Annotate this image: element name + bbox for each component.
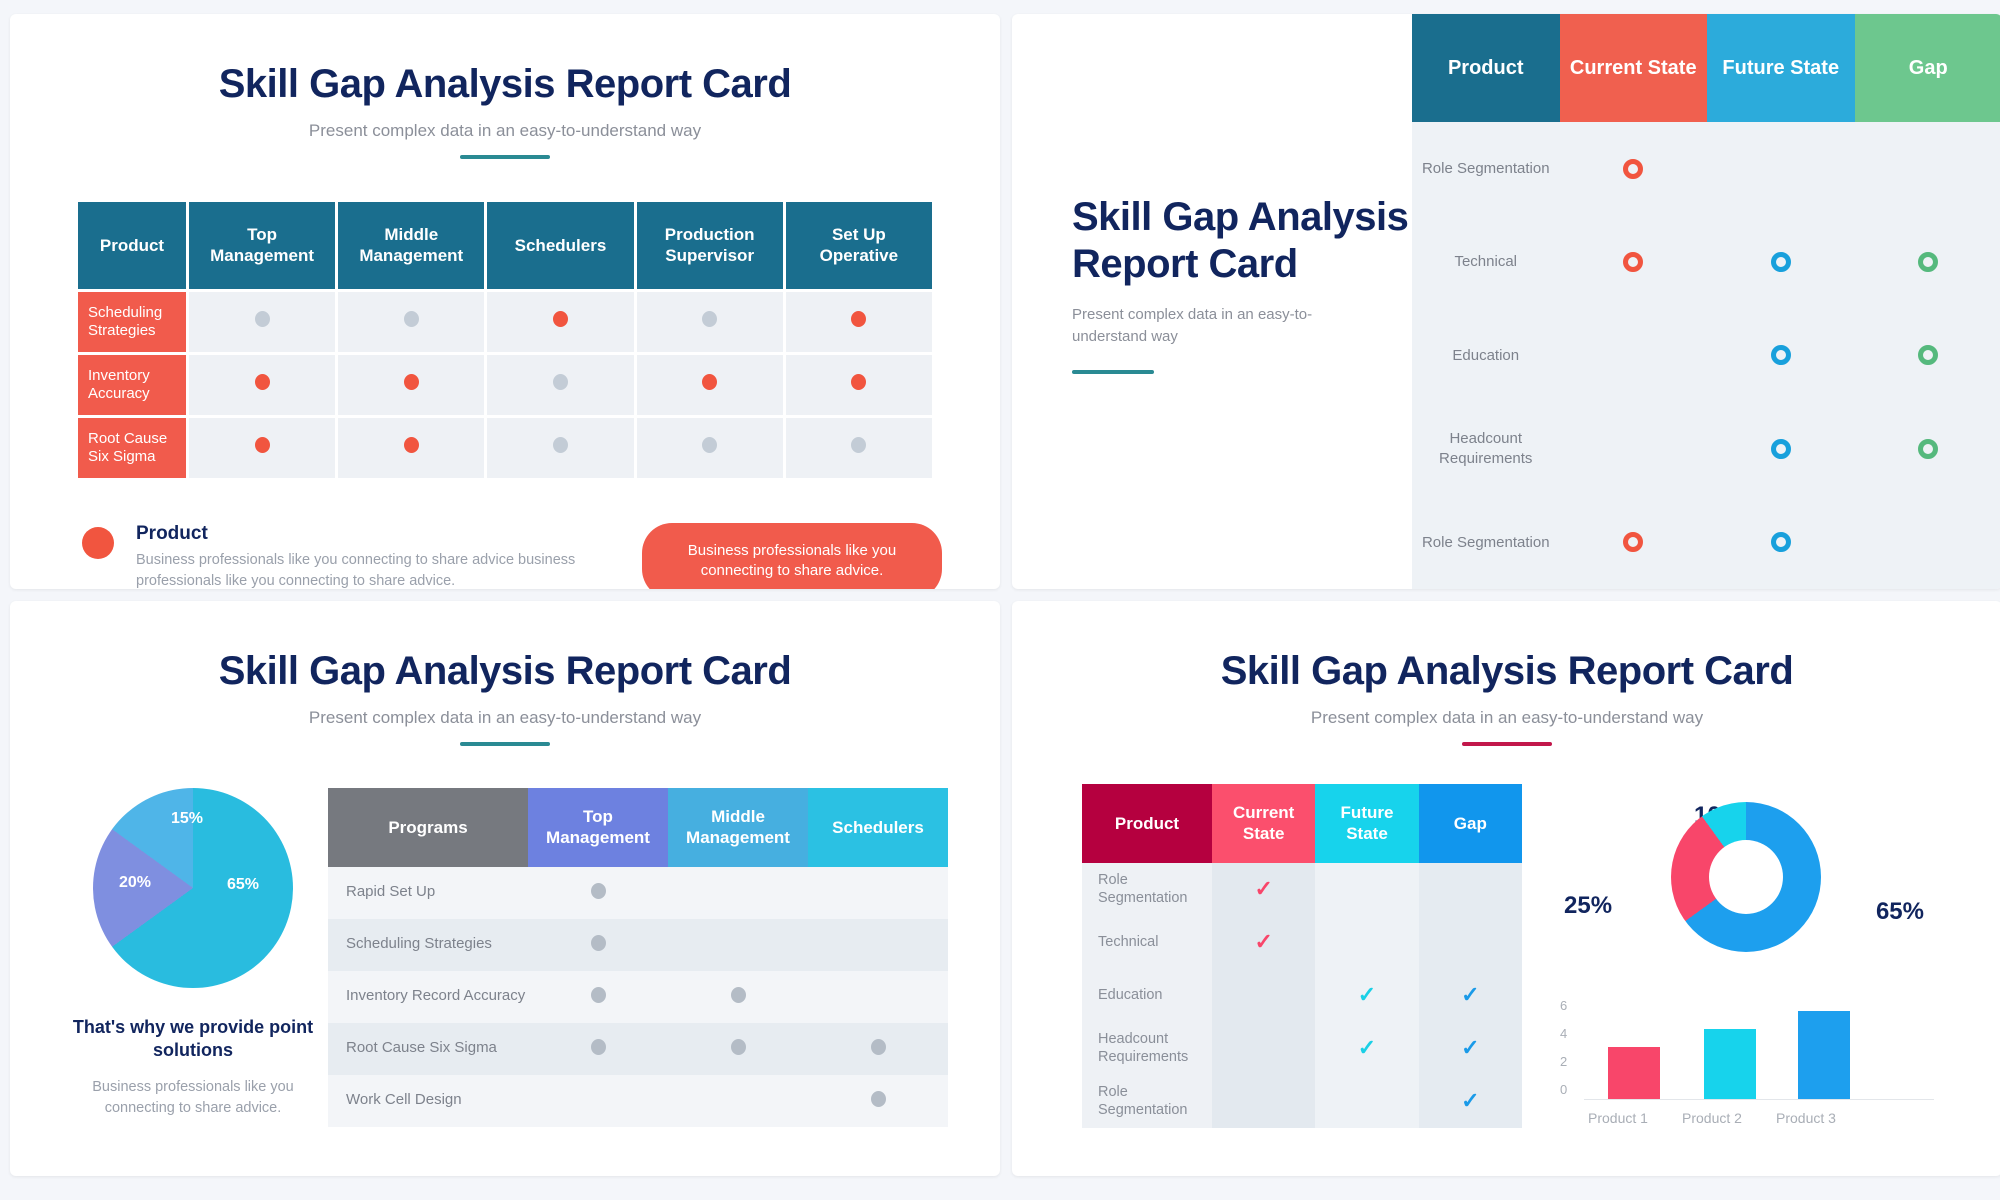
pie-label-65: 65% bbox=[227, 876, 259, 894]
slide-grid: Skill Gap Analysis Report Card Present c… bbox=[0, 0, 2000, 1190]
cell-future-state bbox=[1707, 345, 1855, 365]
status-dot-red bbox=[404, 374, 419, 390]
status-dot-grey bbox=[553, 437, 568, 453]
status-dot-grey bbox=[851, 437, 866, 453]
row-label: Headcount Requirements bbox=[1082, 1022, 1212, 1075]
pie-chart: 65% 20% 15% bbox=[93, 788, 293, 988]
page-title: Skill Gap Analysis Report Card bbox=[10, 649, 1000, 694]
status-dot-grey bbox=[591, 935, 606, 951]
cell-current-state: ✓ bbox=[1212, 863, 1315, 916]
page-subtitle: Present complex data in an easy-to-under… bbox=[1072, 304, 1322, 348]
matrix-cell bbox=[786, 355, 932, 415]
check-icon-blue: ✓ bbox=[1461, 982, 1479, 1007]
cell-middle-management bbox=[668, 867, 808, 919]
matrix-cell bbox=[487, 292, 633, 352]
table-row: Inventory Record Accuracy bbox=[328, 971, 948, 1023]
legend-title: Product bbox=[136, 523, 606, 545]
cell-current-state bbox=[1212, 969, 1315, 1022]
cell-top-management bbox=[528, 867, 668, 919]
col-header-future-state: Future State bbox=[1707, 14, 1855, 122]
table-row: Education bbox=[1412, 309, 2000, 402]
cell-future-state bbox=[1315, 1075, 1418, 1128]
status-dot-red bbox=[255, 437, 270, 453]
table-row: Headcount Requirements bbox=[1412, 402, 2000, 495]
cell-middle-management bbox=[668, 1075, 808, 1127]
ring-icon-blue bbox=[1771, 345, 1791, 365]
cell-schedulers bbox=[808, 867, 948, 919]
col-header-middle-management: Middle Management bbox=[338, 202, 484, 289]
row-label: Education bbox=[1082, 969, 1212, 1022]
gap-check-table: Product Current State Future State Gap R… bbox=[1082, 784, 1522, 1128]
ring-icon-blue bbox=[1771, 532, 1791, 552]
status-dot-red bbox=[404, 437, 419, 453]
status-dot-grey bbox=[871, 1039, 886, 1055]
table-row: Role Segmentation ✓ bbox=[1082, 1075, 1522, 1128]
row-label: Technical bbox=[1082, 916, 1212, 969]
table-row: Root Cause Six Sigma bbox=[328, 1023, 948, 1075]
ring-icon-blue bbox=[1771, 439, 1791, 459]
cell-gap bbox=[1855, 439, 2000, 459]
cell-current-state bbox=[1560, 159, 1708, 179]
cell-future-state: ✓ bbox=[1315, 1022, 1418, 1075]
pie-caption: That's why we provide point solutions bbox=[68, 1016, 318, 1063]
status-dot-red bbox=[851, 311, 866, 327]
x-tick-product-3: Product 3 bbox=[1776, 1110, 1836, 1126]
cell-gap bbox=[1419, 863, 1522, 916]
cell-top-management bbox=[528, 971, 668, 1023]
row-label: Inventory Accuracy bbox=[78, 355, 186, 415]
matrix-cell bbox=[338, 355, 484, 415]
table-header-row: Product Current State Future State Gap bbox=[1412, 14, 2000, 122]
check-icon-blue: ✓ bbox=[1461, 1035, 1479, 1060]
status-dot-red bbox=[255, 374, 270, 390]
matrix-cell bbox=[637, 418, 783, 478]
legend-text-block: Product Business professionals like you … bbox=[136, 523, 606, 590]
status-dot-red bbox=[851, 374, 866, 390]
cell-gap bbox=[1855, 252, 2000, 272]
table-header-row: Programs Top Management Middle Managemen… bbox=[328, 788, 948, 867]
col-header-future-state: Future State bbox=[1315, 784, 1418, 863]
matrix-cell bbox=[189, 355, 335, 415]
cell-top-management bbox=[528, 1023, 668, 1075]
cell-schedulers bbox=[808, 1023, 948, 1075]
ring-icon-red bbox=[1623, 532, 1643, 552]
pie-label-20: 20% bbox=[119, 874, 151, 892]
panel3-body: 65% 20% 15% That's why we provide point … bbox=[68, 788, 1000, 1127]
panel-current-future-gap-rings: Skill Gap Analysis Report Card Present c… bbox=[1012, 14, 2000, 589]
cell-future-state bbox=[1707, 532, 1855, 552]
cell-current-state bbox=[1560, 532, 1708, 552]
cell-gap: ✓ bbox=[1419, 969, 1522, 1022]
cell-current-state bbox=[1212, 1022, 1315, 1075]
ring-icon-green bbox=[1918, 439, 1938, 459]
title-rule bbox=[1072, 370, 1154, 374]
table-row: Role Segmentation ✓ bbox=[1082, 863, 1522, 916]
table-row: Scheduling Strategies bbox=[328, 919, 948, 971]
cell-future-state: ✓ bbox=[1315, 969, 1418, 1022]
matrix-cell bbox=[786, 292, 932, 352]
pie-label-15: 15% bbox=[171, 810, 203, 828]
page-subtitle: Present complex data in an easy-to-under… bbox=[10, 708, 1000, 728]
x-axis-line bbox=[1584, 1099, 1934, 1100]
page-title: Skill Gap Analysis Report Card bbox=[1012, 649, 2000, 694]
table-row: Role Segmentation bbox=[1412, 496, 2000, 589]
matrix-cell bbox=[487, 418, 633, 478]
status-dot-grey bbox=[702, 311, 717, 327]
row-label: Role Segmentation bbox=[1082, 1075, 1212, 1128]
bar-product-3 bbox=[1798, 1011, 1850, 1099]
row-label: Work Cell Design bbox=[328, 1075, 528, 1127]
status-dot-red bbox=[553, 311, 568, 327]
panel2-intro: Skill Gap Analysis Report Card Present c… bbox=[1012, 14, 1412, 589]
col-header-top-management: Top Management bbox=[189, 202, 335, 289]
legend-body: Business professionals like you connecti… bbox=[136, 550, 606, 590]
title-rule bbox=[460, 742, 550, 746]
check-icon-pink: ✓ bbox=[1254, 929, 1272, 954]
donut-chart bbox=[1671, 802, 1821, 952]
col-header-schedulers: Schedulers bbox=[808, 788, 948, 867]
status-dot-grey bbox=[591, 1039, 606, 1055]
row-label: Headcount Requirements bbox=[1412, 429, 1560, 468]
legend-block: Product Business professionals like you … bbox=[82, 523, 942, 590]
row-label: Role Segmentation bbox=[1422, 159, 1550, 179]
cell-future-state bbox=[1707, 439, 1855, 459]
row-label: Root Cause Six Sigma bbox=[328, 1023, 528, 1075]
panel4-charts: 10% 25% 65% 6 4 2 0 Product 1 Product 2 bbox=[1546, 784, 1946, 1128]
check-icon-cyan: ✓ bbox=[1358, 982, 1376, 1007]
col-header-product: Product bbox=[1082, 784, 1212, 863]
cell-schedulers bbox=[808, 1075, 948, 1127]
status-dot-grey bbox=[871, 1091, 886, 1107]
bar-product-2 bbox=[1704, 1029, 1756, 1099]
skill-matrix-table: Product Top Management Middle Management… bbox=[75, 199, 935, 481]
cell-middle-management bbox=[668, 1023, 808, 1075]
matrix-cell bbox=[338, 292, 484, 352]
matrix-cell bbox=[786, 418, 932, 478]
cell-gap: ✓ bbox=[1419, 1075, 1522, 1128]
row-label: Inventory Record Accuracy bbox=[328, 971, 528, 1023]
status-dot-red bbox=[702, 374, 717, 390]
title-rule bbox=[1462, 742, 1552, 746]
status-dot-grey bbox=[731, 987, 746, 1003]
legend-dot-icon bbox=[82, 527, 114, 559]
table-row: Technical bbox=[1412, 215, 2000, 308]
ring-icon-red bbox=[1623, 159, 1643, 179]
cell-gap bbox=[1419, 916, 1522, 969]
cell-top-management bbox=[528, 919, 668, 971]
page-subtitle: Present complex data in an easy-to-under… bbox=[1012, 708, 2000, 728]
table-body: Role Segmentation Technical Education bbox=[1412, 122, 2000, 589]
row-label: Scheduling Strategies bbox=[328, 919, 528, 971]
table-header-row: Product Top Management Middle Management… bbox=[78, 202, 932, 289]
col-header-gap: Gap bbox=[1855, 14, 2000, 122]
cell-middle-management bbox=[668, 919, 808, 971]
cell-gap: ✓ bbox=[1419, 1022, 1522, 1075]
x-tick-product-2: Product 2 bbox=[1682, 1110, 1742, 1126]
ring-icon-red bbox=[1623, 252, 1643, 272]
status-dot-grey bbox=[591, 883, 606, 899]
cell-schedulers bbox=[808, 971, 948, 1023]
status-dot-grey bbox=[404, 311, 419, 327]
status-dot-grey bbox=[591, 987, 606, 1003]
table-row: Technical ✓ bbox=[1082, 916, 1522, 969]
pie-caption-sub: Business professionals like you connecti… bbox=[68, 1077, 318, 1119]
cell-current-state bbox=[1212, 1075, 1315, 1128]
col-header-schedulers: Schedulers bbox=[487, 202, 633, 289]
panel-pie-programs: Skill Gap Analysis Report Card Present c… bbox=[10, 601, 1000, 1176]
title-rule bbox=[460, 155, 550, 159]
cell-future-state bbox=[1315, 863, 1418, 916]
status-dot-grey bbox=[553, 374, 568, 390]
donut-label-25: 25% bbox=[1564, 892, 1612, 920]
matrix-cell bbox=[338, 418, 484, 478]
status-dot-grey bbox=[702, 437, 717, 453]
panel2-layout: Skill Gap Analysis Report Card Present c… bbox=[1012, 14, 2000, 589]
panel2-table: Product Current State Future State Gap R… bbox=[1412, 14, 2000, 589]
ring-icon-green bbox=[1918, 252, 1938, 272]
check-icon-cyan: ✓ bbox=[1358, 1035, 1376, 1060]
row-label: Rapid Set Up bbox=[328, 867, 528, 919]
table-row: Headcount Requirements ✓ ✓ bbox=[1082, 1022, 1522, 1075]
cell-gap bbox=[1855, 345, 2000, 365]
row-label: Root Cause Six Sigma bbox=[78, 418, 186, 478]
cell-schedulers bbox=[808, 919, 948, 971]
page-title: Skill Gap Analysis Report Card bbox=[1072, 194, 1412, 288]
table-row: Scheduling Strategies bbox=[78, 292, 932, 352]
y-tick-4: 4 bbox=[1560, 1026, 1567, 1041]
status-dot-grey bbox=[731, 1039, 746, 1055]
row-label: Technical bbox=[1454, 252, 1517, 272]
status-dot-grey bbox=[255, 311, 270, 327]
row-label: Role Segmentation bbox=[1422, 533, 1550, 553]
cell-middle-management bbox=[668, 971, 808, 1023]
table-header-row: Product Current State Future State Gap bbox=[1082, 784, 1522, 863]
matrix-cell bbox=[637, 292, 783, 352]
col-header-gap: Gap bbox=[1419, 784, 1522, 863]
cell-current-state: ✓ bbox=[1212, 916, 1315, 969]
matrix-cell bbox=[637, 355, 783, 415]
col-header-product: Product bbox=[1412, 14, 1560, 122]
programs-table: Programs Top Management Middle Managemen… bbox=[328, 788, 948, 1127]
bar-product-1 bbox=[1608, 1047, 1660, 1099]
matrix-cell bbox=[189, 292, 335, 352]
table-row: Inventory Accuracy bbox=[78, 355, 932, 415]
check-icon-pink: ✓ bbox=[1254, 876, 1272, 901]
col-header-set-up-operative: Set Up Operative bbox=[786, 202, 932, 289]
panel4-body: Product Current State Future State Gap R… bbox=[1082, 784, 2000, 1128]
cell-future-state bbox=[1315, 916, 1418, 969]
row-label: Education bbox=[1452, 346, 1519, 366]
y-tick-2: 2 bbox=[1560, 1054, 1567, 1069]
table-row: Role Segmentation bbox=[1412, 122, 2000, 215]
col-header-programs: Programs bbox=[328, 788, 528, 867]
row-label: Role Segmentation bbox=[1082, 863, 1212, 916]
cell-future-state bbox=[1707, 252, 1855, 272]
y-tick-6: 6 bbox=[1560, 998, 1567, 1013]
ring-icon-blue bbox=[1771, 252, 1791, 272]
col-header-middle-management: Middle Management bbox=[668, 788, 808, 867]
ring-icon-green bbox=[1918, 345, 1938, 365]
page-subtitle: Present complex data in an easy-to-under… bbox=[10, 121, 1000, 141]
y-tick-0: 0 bbox=[1560, 1082, 1567, 1097]
table-row: Rapid Set Up bbox=[328, 867, 948, 919]
matrix-cell bbox=[487, 355, 633, 415]
check-icon-blue: ✓ bbox=[1461, 1088, 1479, 1113]
matrix-cell bbox=[189, 418, 335, 478]
row-label: Scheduling Strategies bbox=[78, 292, 186, 352]
pie-chart-block: 65% 20% 15% That's why we provide point … bbox=[68, 788, 318, 1127]
col-header-current-state: Current State bbox=[1212, 784, 1315, 863]
bar-chart: 6 4 2 0 Product 1 Product 2 Product 3 bbox=[1546, 998, 1946, 1128]
page-title: Skill Gap Analysis Report Card bbox=[10, 62, 1000, 107]
cell-top-management bbox=[528, 1075, 668, 1127]
table-row: Work Cell Design bbox=[328, 1075, 948, 1127]
donut-label-65: 65% bbox=[1876, 898, 1924, 926]
table-row: Root Cause Six Sigma bbox=[78, 418, 932, 478]
col-header-current-state: Current State bbox=[1560, 14, 1708, 122]
panel-checks-donut-bars: Skill Gap Analysis Report Card Present c… bbox=[1012, 601, 2000, 1176]
panel-matrix-dots: Skill Gap Analysis Report Card Present c… bbox=[10, 14, 1000, 589]
cell-current-state bbox=[1560, 252, 1708, 272]
callout-pill[interactable]: Business professionals like you connecti… bbox=[642, 523, 942, 590]
donut-chart-block: 10% 25% 65% bbox=[1546, 802, 1946, 992]
x-tick-product-1: Product 1 bbox=[1588, 1110, 1648, 1126]
col-header-production-supervisor: Production Supervisor bbox=[637, 202, 783, 289]
table-row: Education ✓ ✓ bbox=[1082, 969, 1522, 1022]
col-header-product: Product bbox=[78, 202, 186, 289]
col-header-top-management: Top Management bbox=[528, 788, 668, 867]
